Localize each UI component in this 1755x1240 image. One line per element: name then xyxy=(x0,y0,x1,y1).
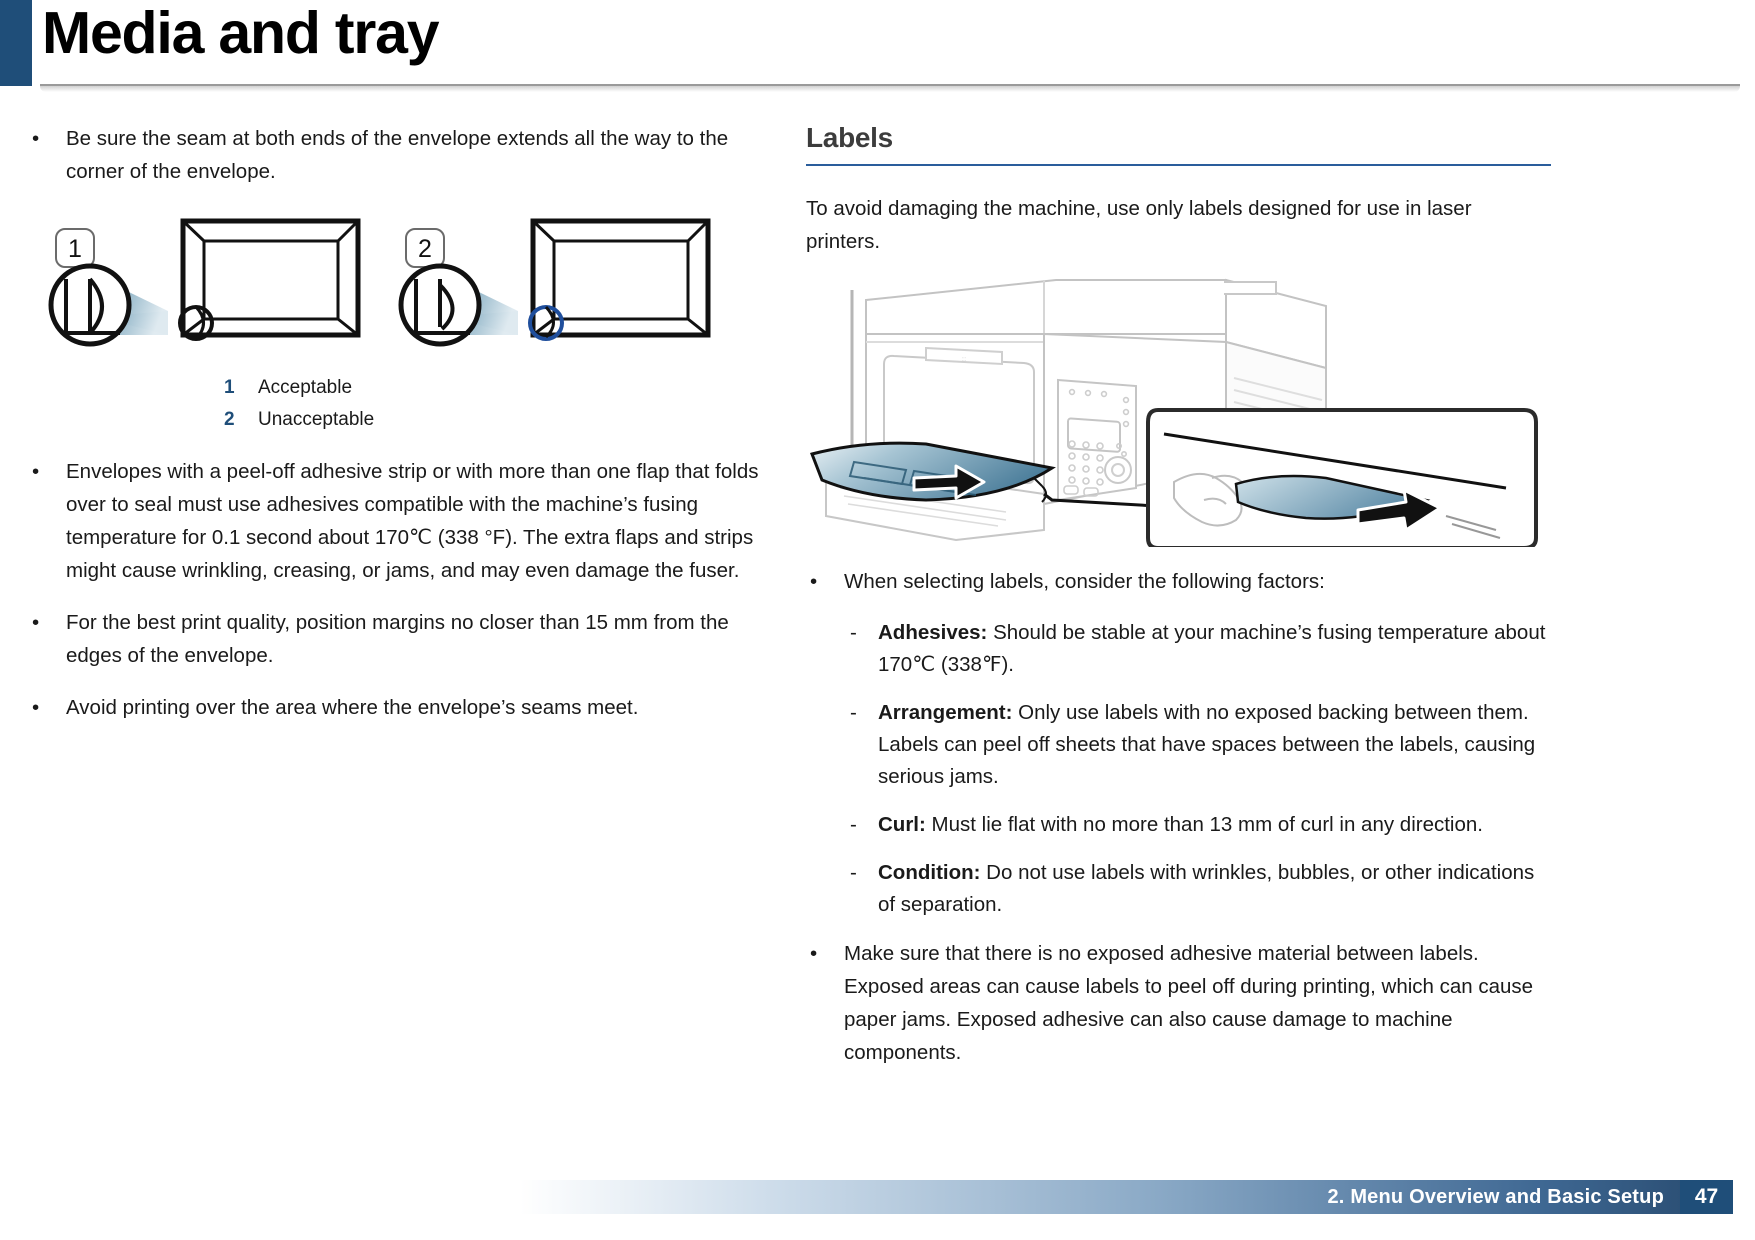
bullet-dot-icon: • xyxy=(32,455,39,488)
bullet-text: Avoid printing over the area where the e… xyxy=(66,696,638,719)
section-heading-labels: Labels xyxy=(806,122,1551,154)
document-page: Media and tray • Be sure the seam at bot… xyxy=(0,0,1755,1240)
bullet-dot-icon: • xyxy=(32,606,39,639)
bullet-dot-icon: • xyxy=(810,565,817,598)
factor-term: Arrangement: xyxy=(878,701,1012,724)
caption-number: 2 xyxy=(224,407,258,433)
svg-text:2: 2 xyxy=(418,235,432,263)
header-accent-bar xyxy=(0,0,32,86)
right-column: Labels To avoid damaging the machine, us… xyxy=(806,122,1551,1088)
factor-adhesives: - Adhesives: Should be stable at your ma… xyxy=(844,617,1551,681)
dash-marker-icon: - xyxy=(850,697,857,729)
caption-label: Acceptable xyxy=(258,375,352,401)
caption-label: Unacceptable xyxy=(258,407,374,433)
figure-caption-list: 1 Acceptable 2 Unacceptable xyxy=(224,375,768,433)
factor-term: Condition: xyxy=(878,861,980,884)
figure-envelope-seam-comparison: 1 xyxy=(28,207,768,367)
left-column: • Be sure the seam at both ends of the e… xyxy=(28,122,768,743)
factor-curl: - Curl: Must lie flat with no more than … xyxy=(844,809,1551,841)
factor-condition: - Condition: Do not use labels with wrin… xyxy=(844,857,1551,921)
dash-marker-icon: - xyxy=(850,617,857,649)
bullet-envelope-seams-meet: • Avoid printing over the area where the… xyxy=(28,691,768,724)
page-number-badge: 47 xyxy=(1680,1180,1733,1214)
bullet-envelope-seam: • Be sure the seam at both ends of the e… xyxy=(28,122,768,188)
bullet-dot-icon: • xyxy=(32,691,39,724)
factor-term: Curl: xyxy=(878,813,926,836)
bullet-text: For the best print quality, position mar… xyxy=(66,611,729,667)
bullet-text: Make sure that there is no exposed adhes… xyxy=(844,942,1533,1064)
bullet-dot-icon: • xyxy=(810,937,817,970)
caption-number: 1 xyxy=(224,375,258,401)
figure-printer-label-loading: ::: xyxy=(806,272,1551,547)
bullet-envelope-margins: • For the best print quality, position m… xyxy=(28,606,768,672)
factor-text: Must lie flat with no more than 13 mm of… xyxy=(926,813,1483,836)
svg-text::::: ::: xyxy=(961,357,966,363)
bullet-dot-icon: • xyxy=(32,122,39,155)
page-footer: 2. Menu Overview and Basic Setup 47 xyxy=(0,1180,1755,1214)
dash-marker-icon: - xyxy=(850,809,857,841)
footer-chapter-label: 2. Menu Overview and Basic Setup xyxy=(1327,1186,1664,1209)
page-title: Media and tray xyxy=(42,0,438,70)
dash-marker-icon: - xyxy=(850,857,857,889)
factor-term: Adhesives: xyxy=(878,621,987,644)
bullet-text: Envelopes with a peel-off adhesive strip… xyxy=(66,460,758,582)
caption-row: 1 Acceptable xyxy=(224,375,768,401)
bullet-envelope-adhesive: • Envelopes with a peel-off adhesive str… xyxy=(28,455,768,587)
factor-arrangement: - Arrangement: Only use labels with no e… xyxy=(844,697,1551,793)
page-header: Media and tray xyxy=(0,0,1755,100)
bullet-text: When selecting labels, consider the foll… xyxy=(844,570,1325,593)
caption-row: 2 Unacceptable xyxy=(224,407,768,433)
label-factors-list: - Adhesives: Should be stable at your ma… xyxy=(844,617,1551,921)
bullet-exposed-adhesive: • Make sure that there is no exposed adh… xyxy=(806,937,1551,1069)
labels-intro-text: To avoid damaging the machine, use only … xyxy=(806,192,1551,258)
footer-chapter-bar: 2. Menu Overview and Basic Setup xyxy=(520,1180,1680,1214)
svg-text:1: 1 xyxy=(68,235,82,263)
bullet-text: Be sure the seam at both ends of the env… xyxy=(66,127,728,183)
bullet-selecting-labels: • When selecting labels, consider the fo… xyxy=(806,565,1551,598)
header-divider xyxy=(40,84,1740,92)
section-divider xyxy=(806,164,1551,166)
